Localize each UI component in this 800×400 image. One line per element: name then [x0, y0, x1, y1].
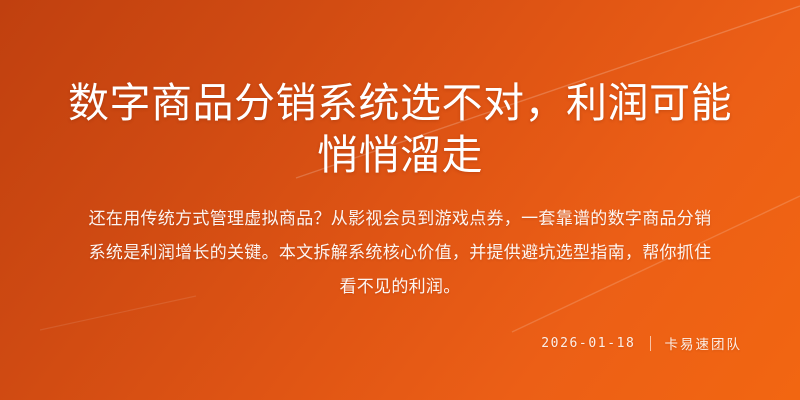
meta-divider: [650, 336, 651, 351]
author-name: 卡易速团队: [665, 333, 743, 353]
page-title: 数字商品分销系统选不对，利润可能悄悄溜走: [56, 78, 744, 181]
article-cover-banner: 数字商品分销系统选不对，利润可能悄悄溜走 还在用传统方式管理虚拟商品？从影视会员…: [0, 0, 800, 400]
publish-date: 2026-01-18: [541, 336, 635, 351]
meta-block: 2026-01-18 卡易速团队: [541, 333, 742, 353]
article-summary: 还在用传统方式管理虚拟商品？从影视会员到游戏点券，一套靠谱的数字商品分销系统是利…: [82, 202, 718, 304]
summary-block: 还在用传统方式管理虚拟商品？从影视会员到游戏点券，一套靠谱的数字商品分销系统是利…: [82, 202, 718, 304]
title-block: 数字商品分销系统选不对，利润可能悄悄溜走: [56, 78, 744, 181]
